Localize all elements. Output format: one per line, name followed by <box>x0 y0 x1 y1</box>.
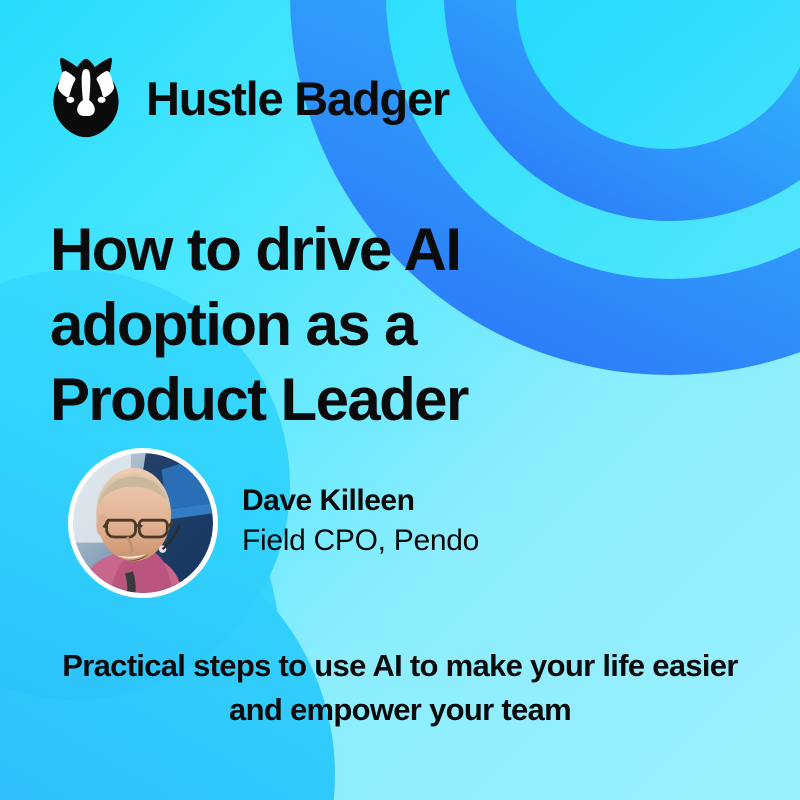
badger-head-icon <box>40 52 132 144</box>
speaker-role: Field CPO, Pendo <box>242 521 479 562</box>
brand-lockup: Hustle Badger <box>40 52 449 144</box>
headline-line-2: adoption as a <box>50 291 416 358</box>
speaker-name: Dave Killeen <box>242 481 479 522</box>
tagline-line-1: Practical steps to use AI to make your <box>62 648 594 683</box>
tagline: Practical steps to use AI to make your l… <box>55 644 745 732</box>
headline: How to drive AI adoption as a Product Le… <box>50 212 670 437</box>
brand-name: Hustle Badger <box>146 75 449 122</box>
speaker-avatar <box>68 448 218 598</box>
social-promo-card: Hustle Badger How to drive AI adoption a… <box>0 0 800 800</box>
speaker-details: Dave Killeen Field CPO, Pendo <box>242 481 479 566</box>
speaker-block: Dave Killeen Field CPO, Pendo <box>68 448 479 598</box>
headline-line-3: Product Leader <box>50 366 468 433</box>
headline-line-1: How to drive AI <box>50 216 460 283</box>
card-content: Hustle Badger How to drive AI adoption a… <box>0 0 800 800</box>
